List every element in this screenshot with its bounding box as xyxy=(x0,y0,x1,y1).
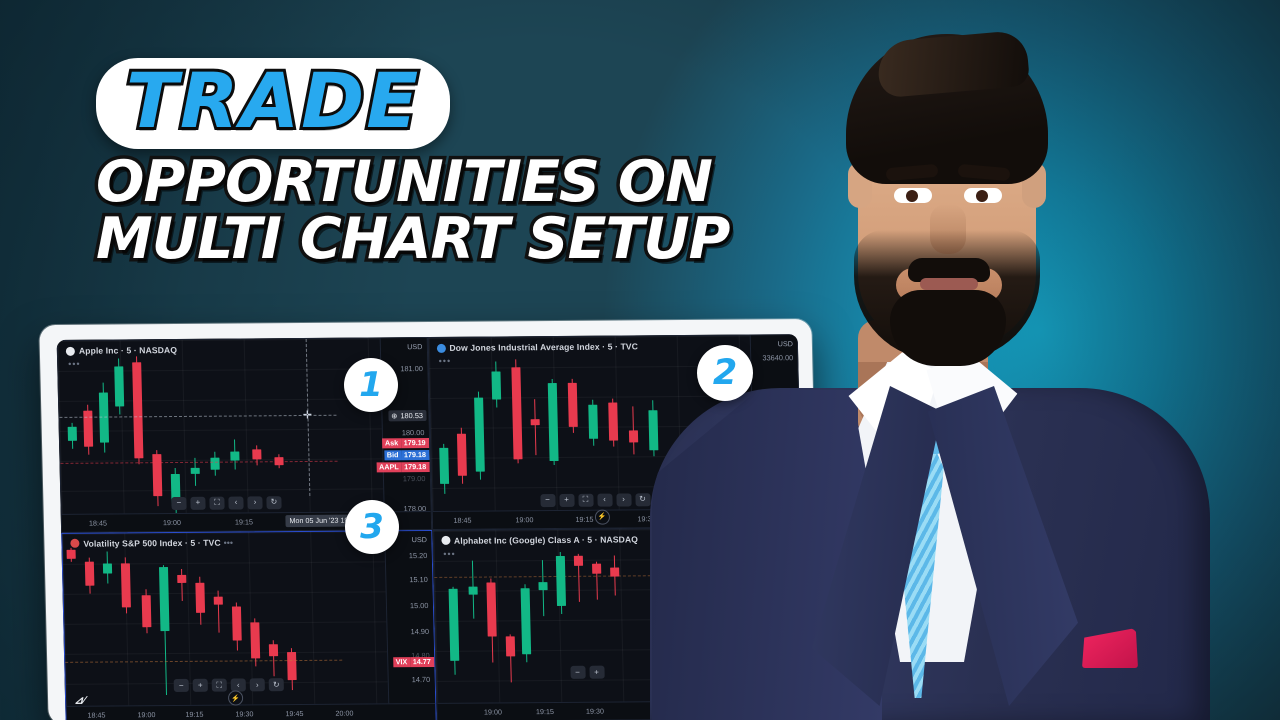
price-tick: 14.70 xyxy=(412,674,431,683)
ellipsis-icon[interactable]: ••• xyxy=(224,537,234,547)
pane-title-apple: Apple Inc · 5 · NASDAQ xyxy=(79,345,177,356)
zoom-in-icon[interactable]: + xyxy=(559,493,574,506)
time-tick: 19:00 xyxy=(137,710,155,719)
chart-pane-vix[interactable]: Volatility S&P 500 Index · 5 · TVC••• xyxy=(61,529,436,720)
google-logo-icon xyxy=(441,536,450,545)
dow-index-icon xyxy=(436,343,445,352)
zoom-out-icon[interactable]: − xyxy=(540,494,555,507)
time-tick: 19:30 xyxy=(235,709,253,718)
time-scale-vix[interactable]: 18:45 19:00 19:15 19:30 19:45 20:00 xyxy=(66,703,435,720)
price-tick: 179.00 xyxy=(403,474,426,483)
time-tick: 18:45 xyxy=(89,518,107,527)
quote-badge-bid: Bid 179.18 xyxy=(384,450,429,460)
pupil-left xyxy=(906,190,918,202)
time-tick: 19:00 xyxy=(484,707,502,716)
quote-badge-vix: VIX 14.77 xyxy=(393,656,434,666)
time-tick: 18:45 xyxy=(453,515,471,524)
ellipsis-icon[interactable]: ••• xyxy=(439,356,452,366)
quote-value: 179.19 xyxy=(401,438,429,448)
price-scale-vix[interactable]: USD 15.20 15.10 15.00 14.90 14.80 VIX 14… xyxy=(384,530,435,704)
time-tick: 19:00 xyxy=(163,517,181,526)
price-tick: 15.20 xyxy=(409,551,428,560)
apple-logo-icon xyxy=(66,346,75,355)
trade-badge-pill: TRADE xyxy=(96,58,450,149)
currency-label-vix[interactable]: USD xyxy=(412,535,427,544)
quote-badge-symbol: AAPL 179.18 xyxy=(377,462,430,472)
zoom-out-icon[interactable]: − xyxy=(174,679,189,692)
zoom-in-icon[interactable]: + xyxy=(190,496,205,509)
quote-value: 14.77 xyxy=(410,656,434,666)
quote-tag: Ask xyxy=(382,438,400,448)
reset-chart-icon[interactable]: ↻ xyxy=(269,678,284,691)
plot-area-vix[interactable]: − + ⛶ ‹ › ↻ ⚡ ⊿⁄ xyxy=(62,531,389,707)
vix-index-icon xyxy=(70,539,79,548)
step-badge-1-number: 1 xyxy=(359,368,383,402)
beard-chin xyxy=(890,290,1006,366)
quote-badge-ask: Ask 179.19 xyxy=(382,438,428,448)
pane-title-vix: Volatility S&P 500 Index · 5 · TVC••• xyxy=(83,537,233,548)
pane-header-apple[interactable]: Apple Inc · 5 · NASDAQ xyxy=(66,345,177,356)
price-tick: 180.00 xyxy=(402,428,425,437)
pane-header-vix[interactable]: Volatility S&P 500 Index · 5 · TVC••• xyxy=(70,537,233,548)
ellipsis-icon[interactable]: ••• xyxy=(443,548,456,558)
step-badge-2-number: 2 xyxy=(713,356,737,391)
price-tick: 15.10 xyxy=(409,575,428,584)
price-tick: 15.00 xyxy=(410,601,429,610)
scroll-left-icon[interactable]: ‹ xyxy=(228,496,243,509)
add-alert-icon[interactable]: ⊕ xyxy=(391,411,397,420)
mouth xyxy=(920,278,978,290)
pupil-right xyxy=(976,190,988,202)
zoom-out-icon[interactable]: − xyxy=(171,496,186,509)
scroll-left-icon[interactable]: ‹ xyxy=(231,678,246,691)
zoom-out-icon[interactable]: − xyxy=(570,666,585,679)
fit-screen-icon[interactable]: ⛶ xyxy=(209,496,224,509)
reset-chart-icon[interactable]: ↻ xyxy=(266,496,281,509)
plot-area-apple[interactable]: ✛ − + ⛶ ‹ › ↻ xyxy=(58,338,385,514)
crosshair-marker: ✛ xyxy=(303,408,313,421)
step-badge-3-number: 3 xyxy=(360,510,384,544)
time-tick: 19:15 xyxy=(235,517,253,526)
chart-toolbar-vix[interactable]: − + ⛶ ‹ › ↻ xyxy=(174,678,284,692)
quote-value: 179.18 xyxy=(401,462,429,472)
step-badge-2: 2 xyxy=(697,345,753,401)
time-tick: 19:15 xyxy=(536,707,554,716)
chart-toolbar-apple[interactable]: − + ⛶ ‹ › ↻ xyxy=(171,496,281,510)
time-tick: 19:15 xyxy=(185,710,203,719)
quote-value: 179.18 xyxy=(401,450,429,460)
step-badge-1: 1 xyxy=(344,358,398,412)
quote-tag: VIX xyxy=(393,657,410,667)
price-tick: 181.00 xyxy=(400,364,423,373)
ellipsis-icon[interactable]: ••• xyxy=(68,359,81,369)
price-tick: 14.90 xyxy=(410,626,429,635)
headline-word-trade: TRADE xyxy=(126,65,420,138)
screenshot-canvas: TRADE OPPORTUNITIES ON MULTI CHART SETUP… xyxy=(0,0,1280,720)
quote-tag: Bid xyxy=(384,450,401,460)
time-tick: 20:00 xyxy=(335,709,353,718)
replay-bolt-icon[interactable]: ⚡ xyxy=(228,690,243,705)
fit-screen-icon[interactable]: ⛶ xyxy=(212,679,227,692)
crosshair-price-value: 180.53 xyxy=(400,411,423,420)
quote-tag: AAPL xyxy=(377,462,402,472)
scroll-right-icon[interactable]: › xyxy=(247,496,262,509)
nose xyxy=(930,204,966,254)
step-badge-3: 3 xyxy=(345,500,399,554)
time-tick: 19:00 xyxy=(515,515,533,524)
presenter-photo xyxy=(590,0,1280,720)
currency-label-apple[interactable]: USD xyxy=(407,342,422,351)
zoom-in-icon[interactable]: + xyxy=(193,679,208,692)
time-tick: 19:45 xyxy=(285,709,303,718)
crosshair-price-label: ⊕ 180.53 xyxy=(388,410,426,421)
tradingview-logo[interactable]: ⊿⁄ xyxy=(74,694,85,707)
scroll-right-icon[interactable]: › xyxy=(250,678,265,691)
time-tick: 18:45 xyxy=(87,711,105,720)
